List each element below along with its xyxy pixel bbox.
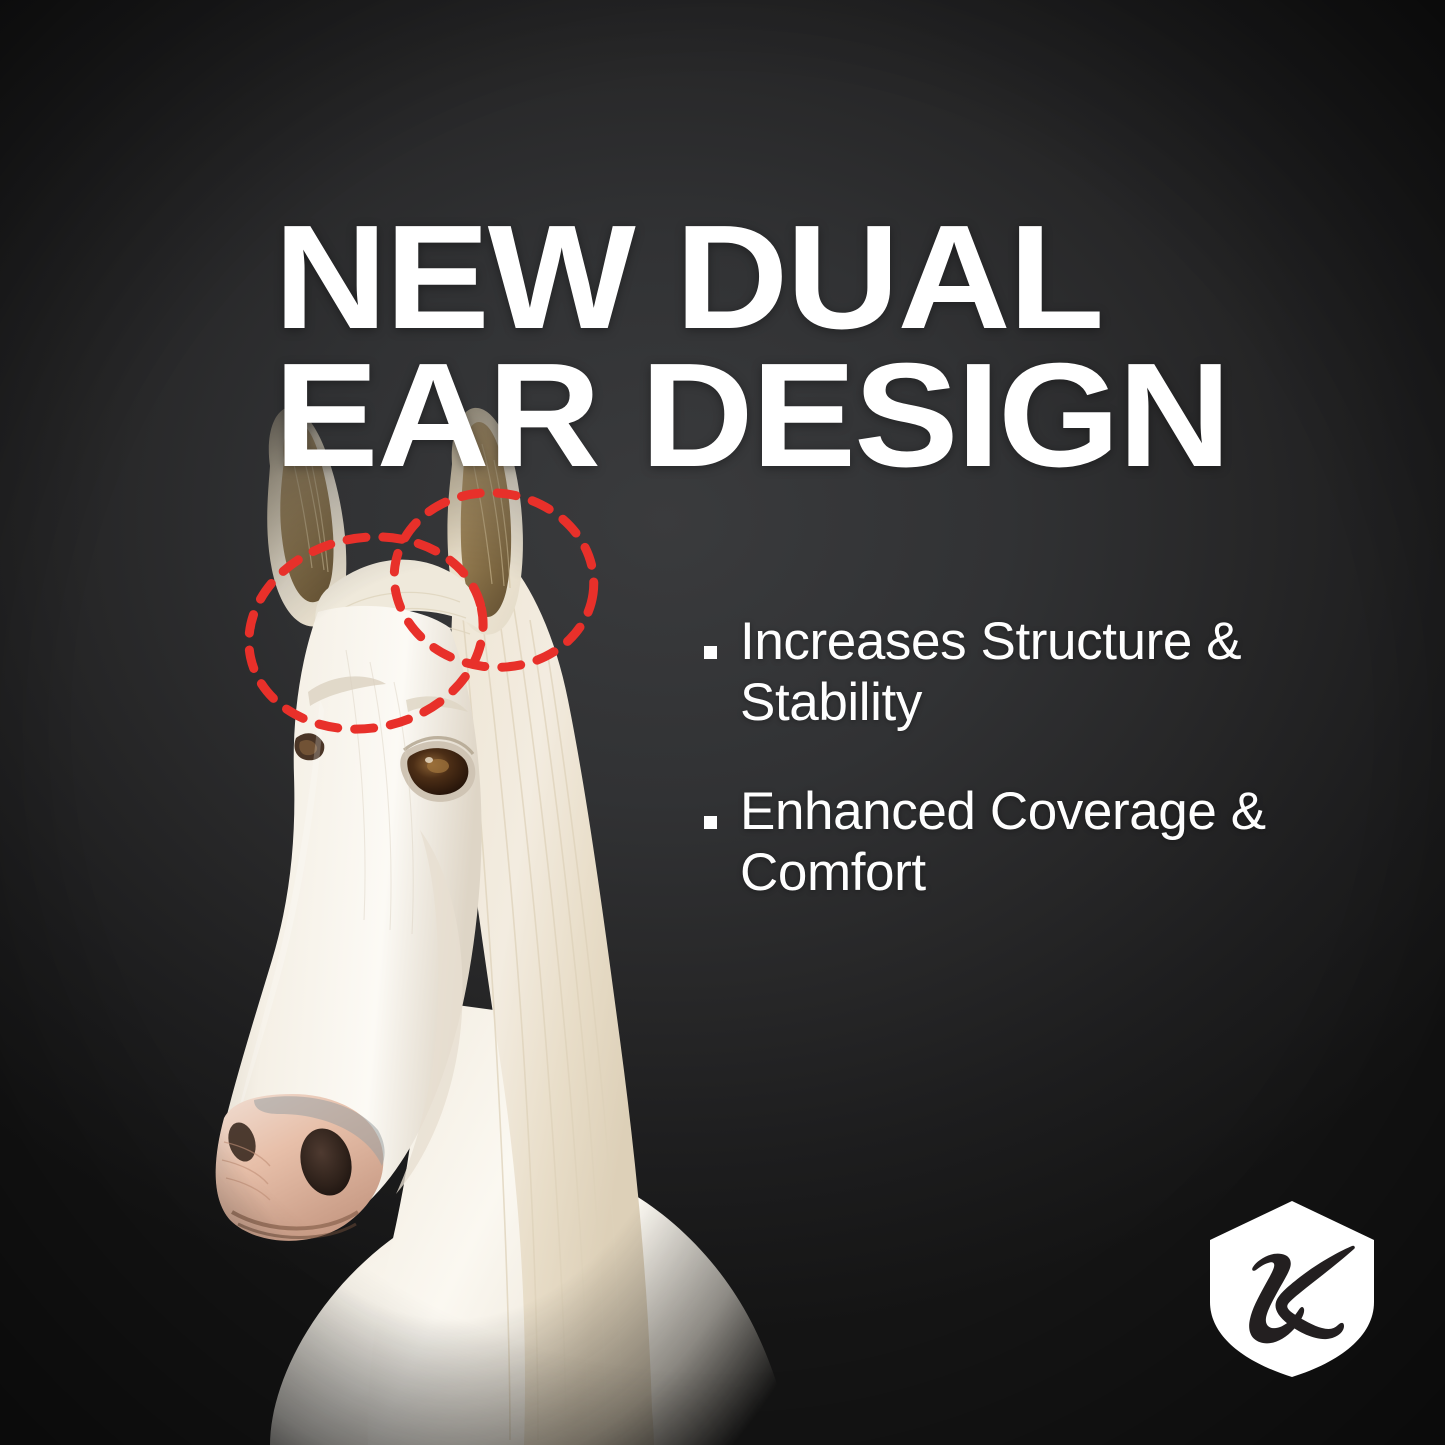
promo-graphic: NEW DUAL EAR DESIGN Increases Structure … (0, 0, 1445, 1445)
list-item: Increases Structure & Stability (700, 612, 1360, 734)
square-bullet-icon (704, 816, 717, 829)
list-item-label: Increases Structure & Stability (740, 612, 1241, 732)
page-title: NEW DUAL EAR DESIGN (274, 209, 1260, 484)
list-item: Enhanced Coverage & Comfort (700, 782, 1360, 904)
headline-line-2: EAR DESIGN (274, 347, 1260, 485)
list-item-label: Enhanced Coverage & Comfort (740, 782, 1266, 902)
headline-line-1: NEW DUAL (274, 209, 1260, 347)
brand-logo (1206, 1198, 1378, 1380)
feature-list: Increases Structure & Stability Enhanced… (700, 612, 1360, 904)
square-bullet-icon (704, 646, 717, 659)
